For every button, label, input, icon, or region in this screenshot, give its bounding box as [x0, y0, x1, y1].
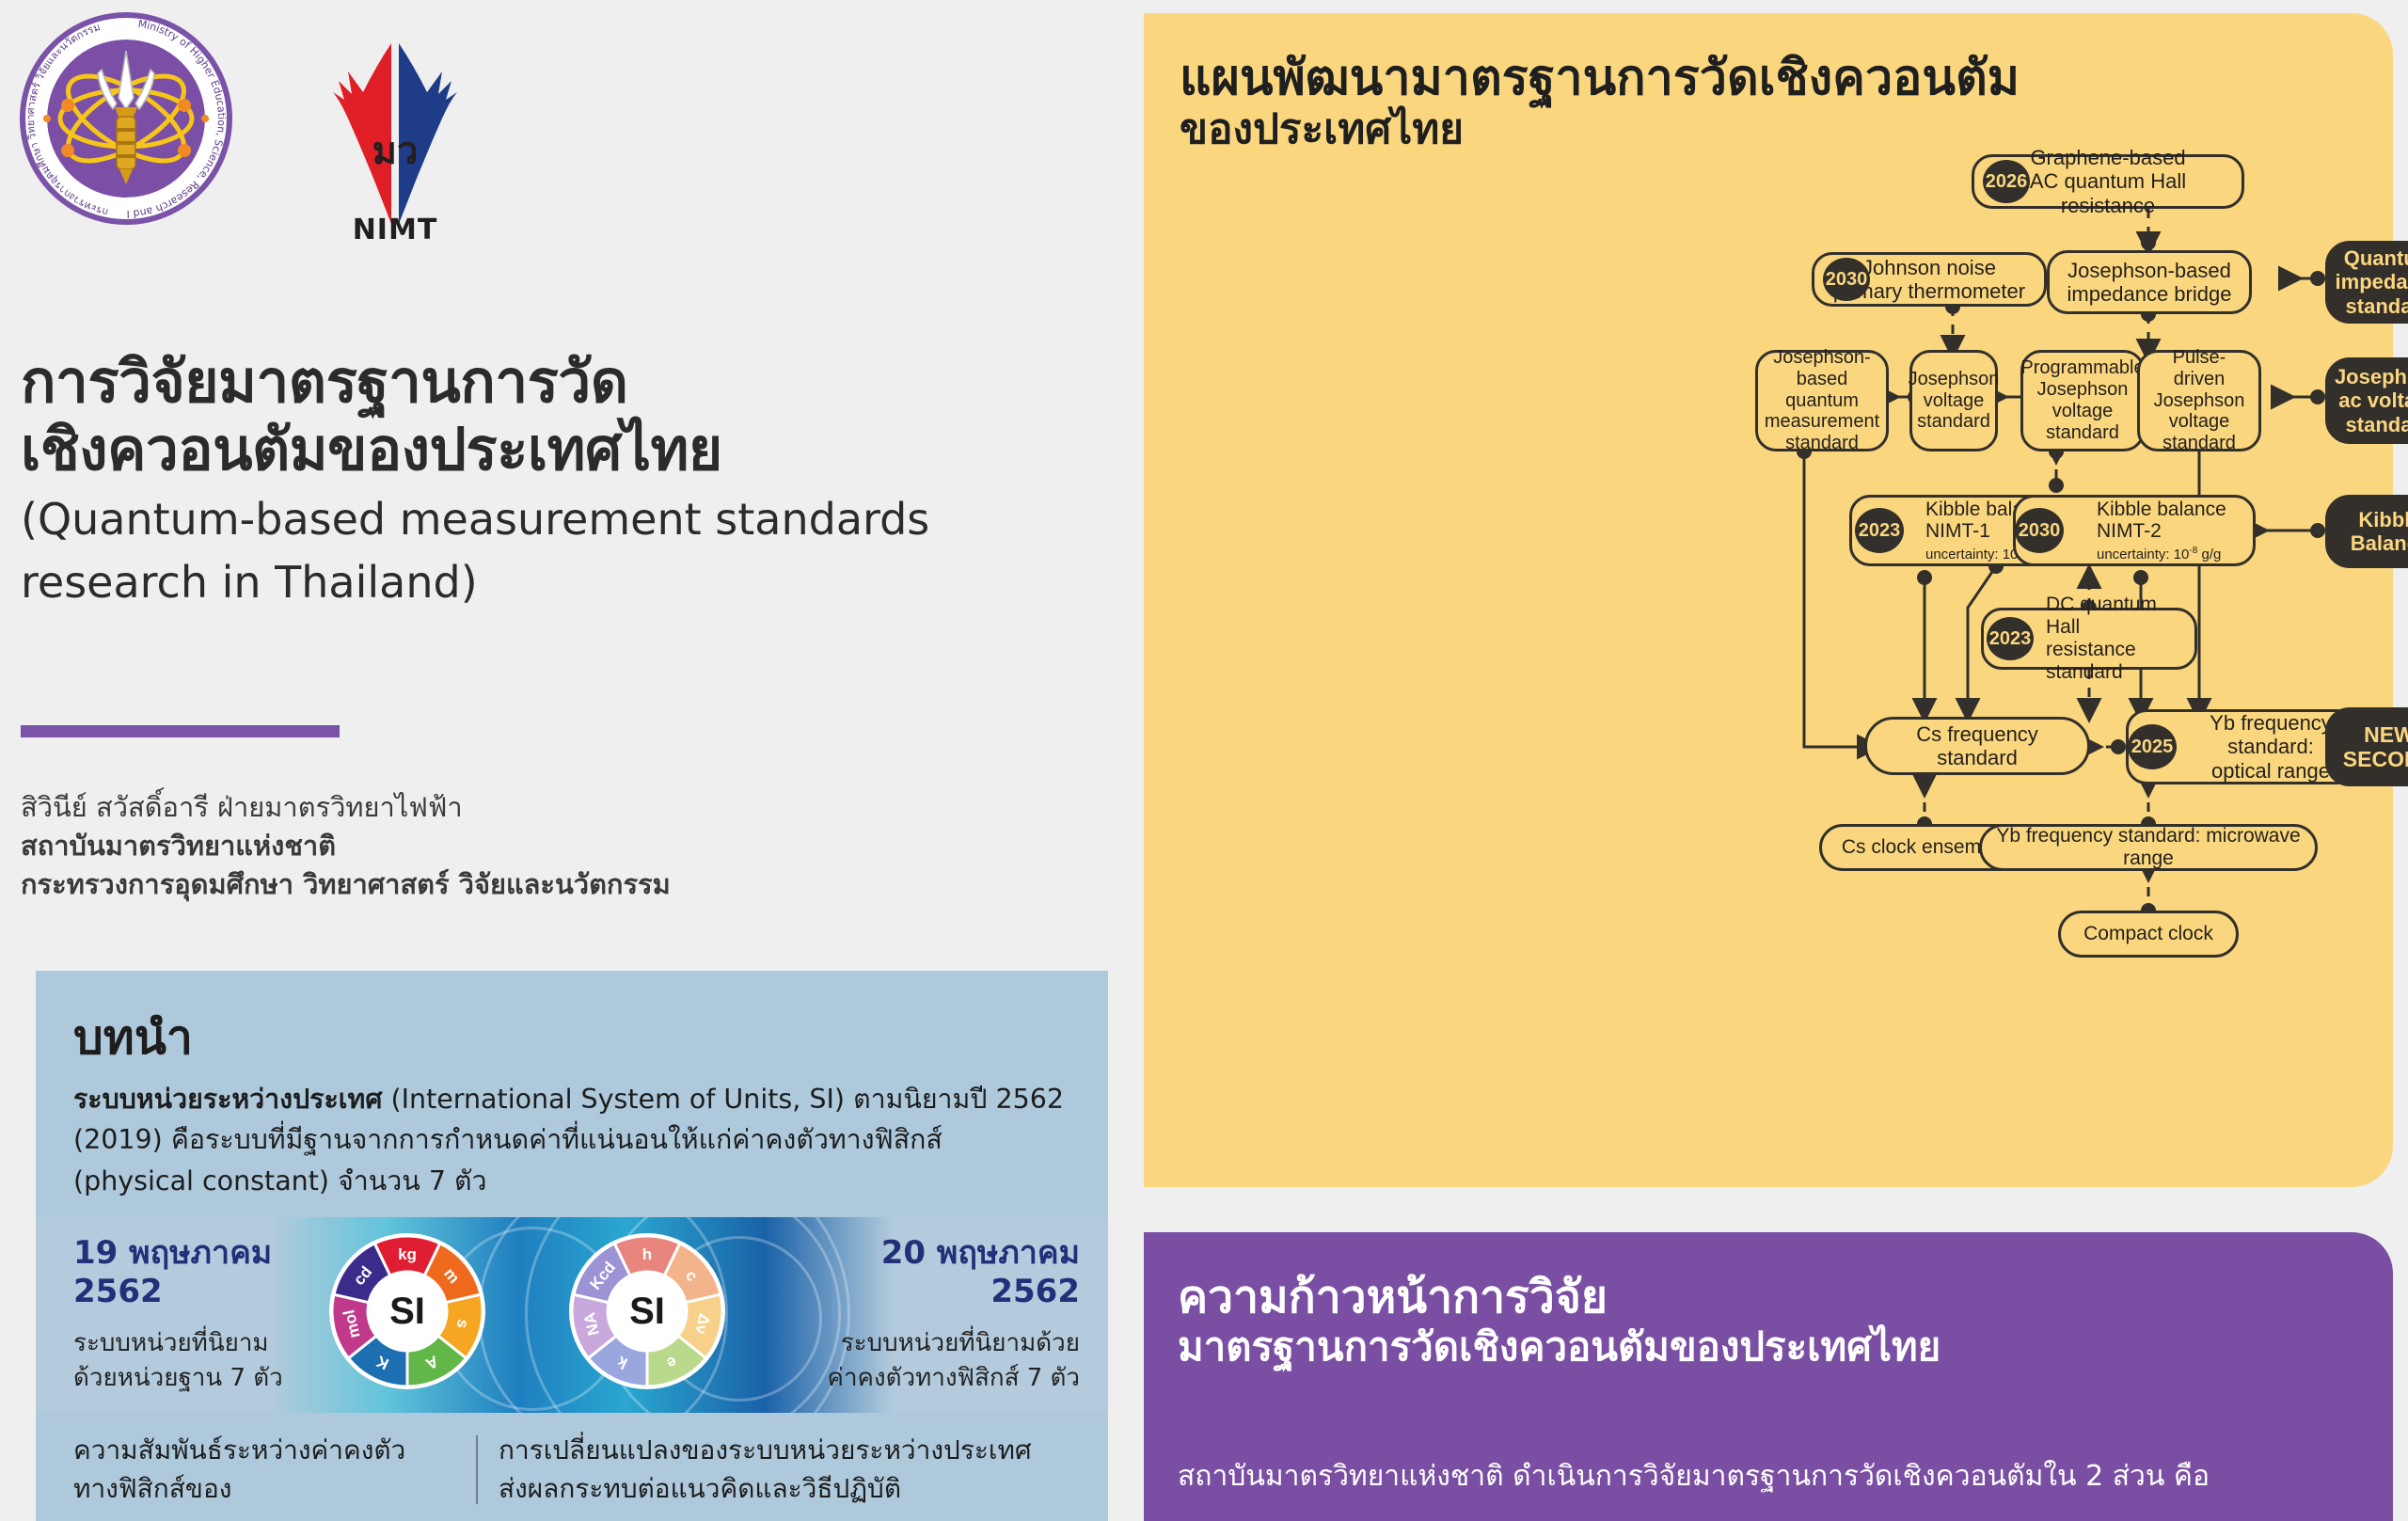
author-name-line: สิวินีย์ สวัสดิ์อารี ฝ่ายมาตรวิทยาไฟฟ้า — [21, 788, 1112, 827]
si-wheel-constants: hcΔνekNAKcd SI — [572, 1236, 722, 1386]
node-qis-label: Quantumimpedancestandard — [2328, 246, 2408, 317]
node-dcqhr-label: DC quantum Hallresistance standard — [2046, 594, 2194, 684]
node-pjvs-label: ProgrammableJosephsonvoltagestandard — [2013, 357, 2151, 443]
plan-title-line1: แผนพัฒนามาตรฐานการวัดเชิงควอนตัม — [1180, 51, 2289, 105]
intro-body: ระบบหน่วยระหว่างประเทศ (International Sy… — [73, 1079, 1070, 1201]
si-unit-label: kg — [398, 1245, 417, 1263]
title-thai-line2: เชิงควอนตัมของประเทศไทย — [21, 416, 1131, 483]
si-wheel-left-hub: SI — [368, 1272, 447, 1351]
node-javs-label: Josephsonac voltagestandard — [2327, 365, 2408, 436]
node-newsec-label: NEWSECOND — [2336, 722, 2408, 771]
intro-panel: บทนำ ระบบหน่วยระหว่างประเทศ (Internation… — [36, 971, 1108, 1521]
node-compact-clock[interactable]: Compact clock — [2058, 911, 2239, 958]
node-josephson-ac-voltage-standard[interactable]: Josephsonac voltagestandard — [2325, 357, 2408, 444]
si-date-right-caption1: ระบบหน่วยที่นิยามด้วย — [722, 1327, 1080, 1360]
node-kb2-label: Kibble balanceNIMT-2 uncertainty: 10-8 g… — [2097, 499, 2226, 563]
node-josephson-voltage-standard[interactable]: Josephsonvoltagestandard — [1909, 350, 1998, 452]
progress-title-line2: มาตรฐานการวัดเชิงควอนตัมของประเทศไทย — [1178, 1323, 2306, 1370]
node-yb-mw-label: Yb frequency standard: microwave range — [1982, 825, 2315, 870]
title-thai-line1: การวิจัยมาตรฐานการวัด — [21, 348, 1131, 416]
nimt-label: NIMT — [320, 214, 470, 246]
ministry-seal-icon: Ministry of Higher Education, Science, R… — [19, 11, 233, 226]
page-title: การวิจัยมาตรฐานการวัด เชิงควอนตัมของประเ… — [21, 348, 1131, 610]
si-date-right: 20 พฤษภาคม 2562 ระบบหน่วยที่นิยามด้วย ค่… — [722, 1234, 1080, 1395]
author-institute: สถาบันมาตรวิทยาแห่งชาติ — [21, 827, 1112, 865]
si-wheel-right-hub: SI — [608, 1272, 687, 1351]
node-cs-frequency-standard[interactable]: Cs frequency standard — [1864, 717, 2090, 775]
nimt-thai-mark: มว — [372, 130, 419, 173]
intro-footer-col1: ความสัมพันธ์ระหว่างค่าคงตัวทางฟิสิกส์ของ — [73, 1432, 476, 1508]
node-jvs-label: Josephsonvoltagestandard — [1901, 369, 2007, 433]
intro-body-bold: ระบบหน่วยระหว่างประเทศ — [73, 1084, 382, 1115]
progress-title: ความก้าวหน้าการวิจัย มาตรฐานการวัดเชิงคว… — [1178, 1272, 2306, 1370]
progress-panel: ความก้าวหน้าการวิจัย มาตรฐานการวัดเชิงคว… — [1144, 1232, 2393, 1521]
node-quantum-impedance-standard[interactable]: Quantumimpedancestandard — [2325, 241, 2408, 324]
node-yb-microwave[interactable]: Yb frequency standard: microwave range — [1979, 824, 2318, 871]
left-column: Ministry of Higher Education, Science, R… — [0, 0, 1144, 1521]
author-ministry: กระทรวงการอุดมศึกษา วิทยาศาสตร์ วิจัยและ… — [21, 865, 1112, 904]
logo-row: Ministry of Higher Education, Science, R… — [19, 11, 546, 246]
node-kbal-label: KibbleBalance — [2343, 508, 2408, 555]
node-cs-label: Cs frequency standard — [1867, 722, 2087, 769]
accent-divider — [21, 725, 340, 737]
roadmap-diagram: Graphene-basedAC quantum Hall resistance… — [1144, 126, 2393, 1180]
node-jib-label: Josephson-basedimpedance bridge — [2060, 259, 2240, 306]
nimt-logo-icon: มว — [320, 40, 470, 228]
node-josephson-quantum-measurement-standard[interactable]: Josephson-basedquantummeasurementstandar… — [1755, 350, 1889, 452]
progress-title-line1: ความก้าวหน้าการวิจัย — [1178, 1272, 2306, 1323]
plan-panel: แผนพัฒนามาตรฐานการวัดเชิงควอนตัม ของประเ… — [1144, 13, 2393, 1187]
si-const-label: h — [642, 1245, 652, 1263]
badge-dcqhr: 2023 — [1987, 617, 2034, 660]
badge-yb-opt: 2025 — [2128, 724, 2177, 769]
node-compact-label: Compact clock — [2076, 923, 2221, 945]
si-date-right-day: 20 พฤษภาคม — [722, 1234, 1080, 1273]
progress-body: สถาบันมาตรวิทยาแห่งชาติ ดำเนินการวิจัยมา… — [1178, 1458, 2335, 1495]
node-pulse-driven-josephson-voltage-standard[interactable]: Pulse-drivenJosephsonvoltagestandard — [2137, 350, 2261, 452]
node-new-second[interactable]: NEWSECOND — [2325, 707, 2408, 786]
node-kibble-balance-goal[interactable]: KibbleBalance — [2325, 495, 2408, 568]
badge-kb1: 2023 — [1855, 508, 1904, 553]
intro-footer-divider — [476, 1435, 478, 1504]
author-block: สิวินีย์ สวัสดิ์อารี ฝ่ายมาตรวิทยาไฟฟ้า … — [21, 788, 1112, 905]
title-english-line2: research in Thailand) — [21, 556, 1131, 610]
node-jqms-label: Josephson-basedquantummeasurementstandar… — [1757, 347, 1887, 454]
badge-kb2: 2030 — [2015, 508, 2064, 553]
si-date-right-caption2: ค่าคงตัวทางฟิสิกส์ 7 ตัว — [722, 1362, 1080, 1395]
node-josephson-impedance-bridge[interactable]: Josephson-basedimpedance bridge — [2047, 250, 2252, 314]
intro-heading: บทนำ — [73, 1001, 193, 1075]
intro-footer-columns: ความสัมพันธ์ระหว่างค่าคงตัวทางฟิสิกส์ของ… — [73, 1432, 1070, 1508]
badge-graphene: 2026 — [1983, 160, 2030, 203]
si-date-right-year: 2562 — [722, 1273, 1080, 1311]
intro-footer-col2: การเปลี่ยนแปลงของระบบหน่วยระหว่างประเทศ … — [499, 1432, 1063, 1508]
si-wheel-base-units: kgmsAKmolcd SI — [332, 1236, 483, 1386]
node-programmable-josephson-voltage-standard[interactable]: ProgrammableJosephsonvoltagestandard — [2020, 350, 2145, 452]
title-english-line1: (Quantum-based measurement standards — [21, 493, 1131, 547]
node-pdjvs-label: Pulse-drivenJosephsonvoltagestandard — [2140, 347, 2258, 454]
badge-johnson: 2030 — [1823, 258, 1870, 301]
